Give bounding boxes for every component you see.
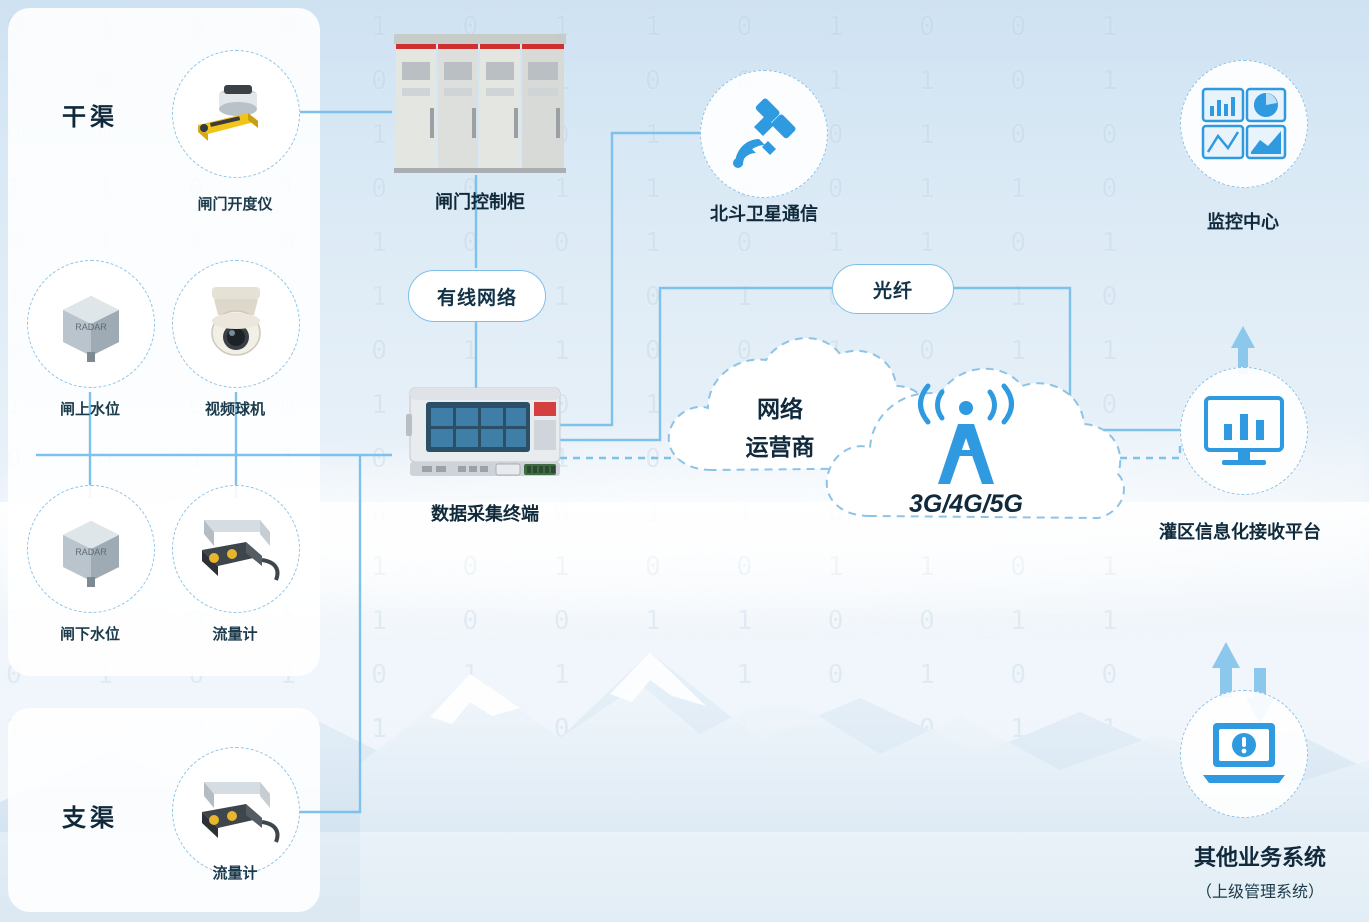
label-irrigation-platform: 灌区信息化接收平台 — [1100, 518, 1369, 544]
label-monitor-center: 监控中心 — [1160, 208, 1326, 234]
label-flow-meter-main: 流量计 — [160, 623, 310, 644]
label-mobile-network: 3G/4G/5G — [866, 490, 1066, 519]
label-other-systems: 其他业务系统 — [1140, 840, 1369, 872]
node-irrigation-platform[interactable] — [1180, 367, 1308, 495]
svg-text:RADAR: RADAR — [75, 322, 107, 332]
node-beidou-satellite[interactable] — [700, 70, 828, 198]
satellite-icon — [727, 97, 801, 171]
label-ptz-camera: 视频球机 — [160, 398, 310, 419]
label-gate-control-cabinet: 闸门控制柜 — [380, 188, 580, 214]
label-gate-opening-meter: 闸门开度仪 — [160, 193, 310, 214]
water-level-sensor-icon: RADAR — [49, 509, 133, 589]
label-upstream-level: 闸上水位 — [15, 398, 165, 419]
link-wired-network[interactable]: 有线网络 — [408, 270, 546, 322]
main-canal-title: 干渠 — [62, 97, 118, 132]
monitor-chart-icon — [1202, 394, 1286, 468]
node-ptz-camera[interactable] — [172, 260, 300, 388]
gate-opening-sensor-icon — [188, 79, 284, 149]
node-monitor-center[interactable] — [1180, 60, 1308, 188]
flow-meter-icon — [184, 768, 288, 854]
label-data-acquisition-terminal: 数据采集终端 — [380, 500, 590, 526]
node-flow-meter-main[interactable] — [172, 485, 300, 613]
label-downstream-level: 闸下水位 — [15, 623, 165, 644]
cell-tower-icon — [898, 388, 1034, 488]
branch-canal-title: 支渠 — [62, 798, 118, 833]
label-network-operator-line2: 运营商 — [700, 428, 860, 462]
ptz-camera-icon — [192, 281, 280, 367]
node-flow-meter-branch[interactable] — [172, 747, 300, 875]
label-flow-meter-branch: 流量计 — [160, 862, 310, 883]
diagram-layer: 干渠 支渠 闸门开度仪 RADAR 闸上水位 — [0, 0, 1369, 922]
dashboard-icon — [1200, 86, 1288, 162]
svg-text:RADAR: RADAR — [75, 547, 107, 557]
link-fiber-label: 光纤 — [873, 276, 913, 303]
node-gate-opening-meter[interactable] — [172, 50, 300, 178]
label-beidou-satellite: 北斗卫星通信 — [662, 200, 866, 226]
node-other-systems[interactable] — [1180, 690, 1308, 818]
link-wired-network-label: 有线网络 — [437, 283, 517, 310]
node-data-acquisition-terminal[interactable] — [400, 382, 568, 482]
node-upstream-level[interactable]: RADAR — [27, 260, 155, 388]
flow-meter-icon — [184, 506, 288, 592]
control-cabinet-icon — [390, 28, 570, 173]
node-gate-control-cabinet[interactable] — [390, 28, 570, 173]
link-fiber[interactable]: 光纤 — [832, 264, 954, 314]
water-level-sensor-icon: RADAR — [49, 284, 133, 364]
sublabel-other-systems: （上级管理系统） — [1140, 878, 1369, 902]
node-downstream-level[interactable]: RADAR — [27, 485, 155, 613]
label-network-operator-line1: 网络 — [700, 390, 860, 424]
laptop-alert-icon — [1201, 719, 1287, 789]
rtu-terminal-icon — [400, 382, 568, 482]
